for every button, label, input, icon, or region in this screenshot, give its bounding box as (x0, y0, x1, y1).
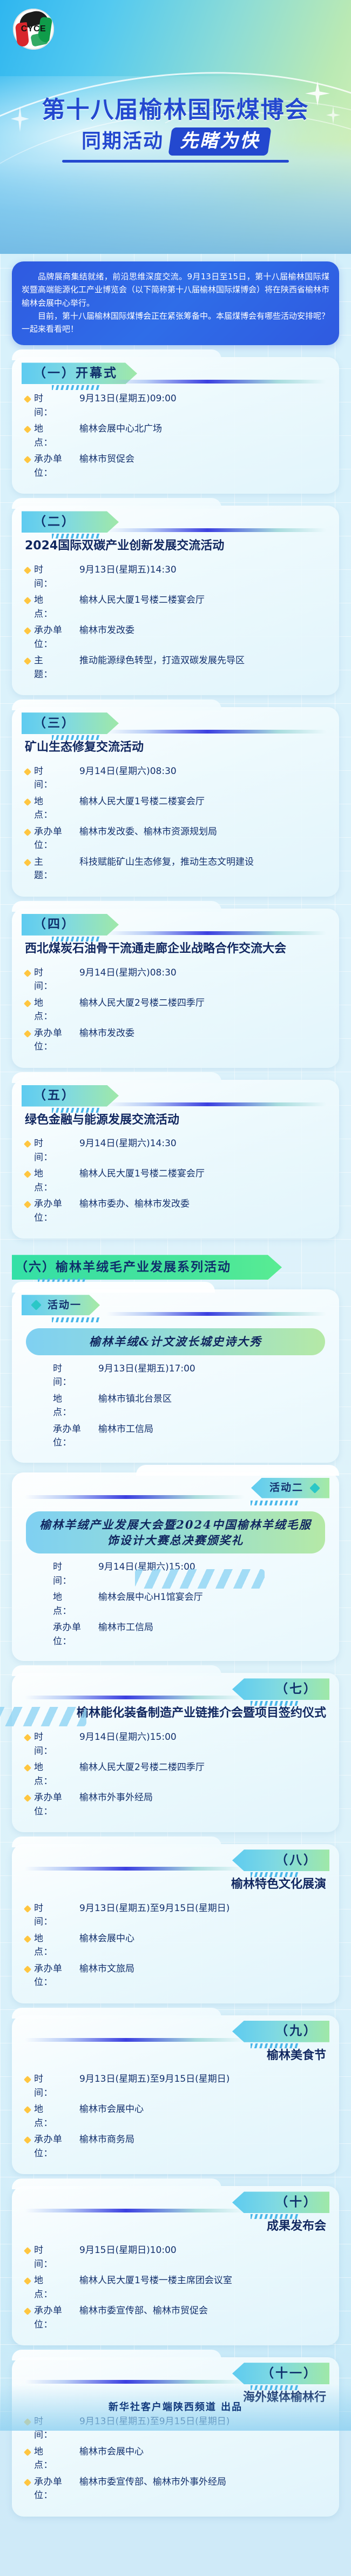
detail-label: 时 间： (34, 2244, 79, 2271)
diamond-bullet-icon (24, 627, 31, 635)
detail-rows: 时 间：9月13日(星期五)17:00地 点：榆林市镇北台景区承办单位：榆林市工… (12, 1357, 339, 1450)
footer-text: 新华社客户端陕西频道 出品 (109, 2403, 242, 2412)
detail-label: 时 间： (34, 392, 79, 420)
intro-paragraph-box: 品牌展商集结就绪，前沿思维深度交流。9月13日至15日，第十八届榆林国际煤炭暨高… (12, 261, 339, 345)
sub-activity-card: 活动一榆林羊绒&计文波长城史诗大秀时 间：9月13日(星期五)17:00地 点：… (12, 1289, 339, 1462)
detail-value: 榆林市镇北台景区 (98, 1393, 326, 1407)
detail-row: 主 题：推动能源绿色转型，打造双碳发展先导区 (25, 654, 326, 682)
diamond-bullet-icon (24, 426, 31, 433)
detail-label: 主 题： (34, 856, 79, 883)
detail-row: 承办单位：榆林市工信局 (53, 1423, 326, 1450)
diamond-bullet-icon (24, 2277, 31, 2285)
detail-value: 榆林市发改委 (79, 1027, 326, 1041)
hero-banner: CYCE 第十八届榆林国际煤博会 同期活动 先睹为快 (0, 0, 351, 254)
detail-row: 承办单位：榆林市发改委 (25, 624, 326, 651)
section-number-tab: （九） (232, 2021, 329, 2042)
detail-value: 榆林市文旅局 (79, 1962, 326, 1976)
card-tab-area: （十） (12, 2186, 339, 2216)
detail-label: 承办单位： (34, 2133, 79, 2161)
diamond-bullet-icon (24, 395, 31, 403)
diamond-bullet-icon (24, 567, 31, 574)
detail-value: 榆林人民大厦1号楼二楼宴会厅 (79, 594, 326, 608)
diamond-bullet-icon (24, 2449, 31, 2456)
dash-decoration (251, 2043, 299, 2048)
detail-label: 地 点： (34, 1167, 79, 1195)
detail-row: 时 间：9月14日(星期六)08:30 (25, 765, 326, 792)
detail-row: 地 点：榆林市会展中心 (25, 2103, 326, 2130)
detail-label: 承办单位： (34, 453, 79, 480)
title-line-1: 第十八届榆林国际煤博会 (19, 97, 332, 123)
event-title: 绿色金融与能源发展交流活动 (12, 1110, 339, 1133)
diamond-bullet-icon (24, 1171, 31, 1178)
streak-decoration (25, 1696, 245, 1699)
detail-label: 地 点： (53, 1591, 98, 1618)
event-card: （五）绿色金融与能源发展交流活动时 间：9月14日(星期六)14:30地 点：榆… (12, 1080, 339, 1239)
activity-tag-label: 活动一 (48, 1300, 82, 1310)
streak-decoration (106, 931, 326, 935)
section-number-tab: （三） (22, 712, 119, 734)
detail-value: 9月13日(星期五)14:30 (79, 563, 326, 577)
detail-value: 榆林市委宣传部、榆林市贸促会 (79, 2304, 326, 2318)
diamond-bullet-icon (24, 999, 31, 1007)
detail-label: 时 间： (34, 966, 79, 994)
event-card: （四）西北煤炭石油骨干流通走廊企业战略合作交流大会时 间：9月14日(星期六)0… (12, 909, 339, 1068)
section-number-tab: （四） (22, 914, 119, 936)
detail-rows: 时 间：9月13日(星期五)至9月15日(星期日)地 点：榆林市会展中心承办单位… (12, 2068, 339, 2161)
section-six-label: （六）榆林羊绒毛产业发展系列活动 (12, 1255, 282, 1280)
detail-value: 榆林市委办、榆林市发改委 (79, 1198, 326, 1212)
detail-row: 承办单位：榆林市工信局 (53, 1621, 326, 1649)
diamond-bullet-icon (24, 1966, 31, 1973)
detail-row: 地 点：榆林会展中心北广场 (25, 422, 326, 450)
streak-decoration (106, 1102, 326, 1106)
streak-decoration (25, 1867, 245, 1871)
dash-decoration (52, 1317, 100, 1322)
intro-paragraph-1: 品牌展商集结就绪，前沿思维深度交流。9月13日至15日，第十八届榆林国际煤炭暨高… (22, 270, 329, 310)
cyce-logo: CYCE (13, 9, 54, 50)
stripe-decoration (135, 1569, 265, 1589)
detail-row: 地 点：榆林市会展中心 (25, 2445, 326, 2473)
detail-label: 承办单位： (34, 624, 79, 651)
diamond-bullet-icon (24, 2308, 31, 2315)
activity-tag: 活动一 (22, 1295, 100, 1315)
detail-value: 9月14日(星期六)08:30 (79, 966, 326, 980)
detail-row: 承办单位：榆林市委办、榆林市发改委 (25, 1198, 326, 1225)
detail-value: 榆林人民大厦1号楼一楼主席团会议室 (79, 2274, 326, 2288)
detail-label: 承办单位： (34, 2304, 79, 2332)
detail-row: 时 间：9月14日(星期六)14:30 (25, 1137, 326, 1165)
section-number-tab: （八） (232, 1849, 329, 1871)
card-tab-area: （八） (12, 1844, 339, 1874)
detail-label: 地 点： (34, 2103, 79, 2130)
diamond-bullet-icon (24, 859, 31, 866)
diamond-bullet-icon (24, 597, 31, 604)
section-number-tab: （七） (232, 1678, 329, 1700)
detail-value: 9月15日(星期日)10:00 (79, 2244, 326, 2258)
intro-paragraph-2: 目前，第十八届榆林国际煤博会正在紧张筹备中。本届煤博会有哪些活动安排呢？一起来看… (22, 310, 329, 336)
activity-tag-label: 活动二 (269, 1483, 303, 1493)
diamond-icon (31, 1300, 42, 1310)
detail-row: 时 间：9月13日(星期五)至9月15日(星期日) (25, 2073, 326, 2100)
section-number-tab: （五） (22, 1085, 119, 1107)
detail-value: 榆林市工信局 (98, 1621, 326, 1635)
activity-title-pill: 榆林羊绒&计文波长城史诗大秀 (26, 1328, 325, 1355)
detail-row: 时 间：9月13日(星期五)09:00 (25, 392, 326, 420)
detail-value: 科技赋能矿山生态修复，推动生态文明建设 (79, 856, 326, 870)
detail-label: 地 点： (34, 1761, 79, 1788)
detail-label: 地 点： (34, 2274, 79, 2302)
detail-label: 承办单位： (34, 2476, 79, 2503)
detail-label: 时 间： (53, 1561, 98, 1588)
event-title: 矿山生态修复交流活动 (12, 737, 339, 760)
diamond-bullet-icon (24, 1201, 31, 1208)
card-tab-area: （二） (12, 506, 339, 536)
detail-row: 地 点：榆林人民大厦1号楼二楼宴会厅 (25, 795, 326, 823)
detail-label: 承办单位： (34, 1027, 79, 1054)
detail-label: 承办单位： (34, 825, 79, 853)
diamond-bullet-icon (24, 456, 31, 463)
dash-decoration (251, 2214, 299, 2219)
detail-rows: 时 间：9月15日(星期日)10:00地 点：榆林人民大厦1号楼一楼主席团会议室… (12, 2239, 339, 2332)
detail-row: 承办单位：榆林市发改委 (25, 1027, 326, 1054)
diamond-bullet-icon (24, 1734, 31, 1741)
sub-tab-area: 活动一 (12, 1289, 339, 1320)
detail-label: 时 间： (34, 765, 79, 792)
detail-rows: 时 间：9月13日(星期五)14:30地 点：榆林人民大厦1号楼二楼宴会厅承办单… (12, 559, 339, 682)
card-tab-area: （三） (12, 707, 339, 737)
dash-decoration (251, 1872, 299, 1877)
event-card: （三）矿山生态修复交流活动时 间：9月14日(星期六)08:30地 点：榆林人民… (12, 707, 339, 897)
event-title: 成果发布会 (12, 2216, 339, 2239)
activity-title-pill: 榆林羊绒产业发展大会暨2024中国榆林羊绒毛服饰设计大赛总决赛颁奖礼 (26, 1511, 325, 1554)
detail-row: 地 点：榆林人民大厦1号楼一楼主席团会议室 (25, 2274, 326, 2302)
streak-decoration (106, 380, 326, 384)
detail-row: 地 点：榆林人民大厦1号楼二楼宴会厅 (25, 594, 326, 621)
diamond-bullet-icon (24, 829, 31, 836)
detail-value: 榆林市会展中心 (79, 2103, 326, 2117)
streak-decoration (25, 2380, 245, 2384)
detail-row: 时 间：9月14日(星期六)08:30 (25, 966, 326, 994)
event-card: （九）榆林美食节时 间：9月13日(星期五)至9月15日(星期日)地 点：榆林市… (12, 2015, 339, 2175)
detail-label: 主 题： (34, 654, 79, 682)
detail-rows: 时 间：9月14日(星期六)15:00地 点：榆林人民大厦2号楼二楼四季厅承办单… (12, 1726, 339, 1819)
detail-row: 承办单位：榆林市发改委、榆林市资源规划局 (25, 825, 326, 853)
detail-value: 榆林市发改委、榆林市资源规划局 (79, 825, 326, 839)
detail-value: 9月13日(星期五)至9月15日(星期日) (79, 2073, 326, 2087)
detail-value: 榆林人民大厦2号楼二楼四季厅 (79, 1761, 326, 1775)
detail-value: 9月14日(星期六)08:30 (79, 765, 326, 779)
card-tab-area: （四） (12, 909, 339, 939)
detail-row: 地 点：榆林人民大厦2号楼二楼四季厅 (25, 1761, 326, 1788)
diamond-bullet-icon (24, 2076, 31, 2083)
detail-value: 榆林人民大厦2号楼二楼四季厅 (79, 997, 326, 1011)
detail-label: 承办单位： (53, 1621, 98, 1649)
diamond-icon (309, 1483, 320, 1494)
detail-label: 承办单位： (34, 1791, 79, 1819)
section-number-tab: （十） (232, 2191, 329, 2213)
detail-label: 时 间： (34, 1902, 79, 1929)
event-title: 榆林美食节 (12, 2046, 339, 2068)
card-tab-area: （九） (12, 2015, 339, 2046)
detail-row: 时 间：9月15日(星期日)10:00 (25, 2244, 326, 2271)
detail-rows: 时 间：9月14日(星期六)08:30地 点：榆林人民大厦2号楼二楼四季厅承办单… (12, 961, 339, 1054)
detail-label: 时 间： (34, 563, 79, 591)
event-card: （一）开幕式时 间：9月13日(星期五)09:00地 点：榆林会展中心北广场承办… (12, 357, 339, 494)
detail-value: 推动能源绿色转型，打造双碳发展先导区 (79, 654, 326, 668)
detail-value: 榆林人民大厦1号楼二楼宴会厅 (79, 795, 326, 809)
detail-row: 承办单位：榆林市委宣传部、榆林市贸促会 (25, 2304, 326, 2332)
event-card: （十）成果发布会时 间：9月15日(星期日)10:00地 点：榆林人民大厦1号楼… (12, 2186, 339, 2345)
detail-rows: 时 间：9月14日(星期六)14:30地 点：榆林人民大厦1号楼二楼宴会厅承办单… (12, 1132, 339, 1225)
detail-label: 地 点： (34, 1932, 79, 1960)
diamond-bullet-icon (24, 1905, 31, 1913)
dash-decoration (251, 1501, 299, 1505)
detail-value: 榆林市外事外经局 (79, 1791, 326, 1805)
detail-row: 时 间：9月13日(星期五)14:30 (25, 563, 326, 591)
card-tab-area: （十一） (12, 2357, 339, 2387)
detail-row: 承办单位：榆林市委宣传部、榆林市外事外经局 (25, 2476, 326, 2503)
detail-row: 主 题：科技赋能矿山生态修复，推动生态文明建设 (25, 856, 326, 883)
detail-label: 地 点： (34, 594, 79, 621)
detail-label: 时 间： (34, 1137, 79, 1165)
detail-row: 时 间：9月13日(星期五)17:00 (53, 1362, 326, 1390)
detail-label: 地 点： (34, 997, 79, 1024)
detail-value: 榆林市委宣传部、榆林市外事外经局 (79, 2476, 326, 2490)
detail-label: 承办单位： (34, 1198, 79, 1225)
event-card: （十一）海外媒体榆林行时 间：9月13日(星期五)至9月15日(星期日)地 点：… (12, 2357, 339, 2517)
diamond-bullet-icon (24, 2106, 31, 2114)
detail-label: 地 点： (34, 2445, 79, 2473)
detail-value: 榆林市发改委 (79, 624, 326, 638)
section-six-activities: 活动一榆林羊绒&计文波长城史诗大秀时 间：9月13日(星期五)17:00地 点：… (0, 1289, 351, 1661)
detail-row: 时 间：9月14日(星期六)15:00 (25, 1731, 326, 1758)
detail-label: 时 间： (34, 1731, 79, 1758)
event-card: （二）2024国际双碳产业创新发展交流活动时 间：9月13日(星期五)14:30… (12, 506, 339, 695)
event-title: 榆林特色文化展演 (12, 1874, 339, 1897)
detail-value: 榆林会展中心北广场 (79, 422, 326, 436)
diamond-bullet-icon (24, 768, 31, 776)
detail-value: 榆林会展中心H1馆宴会厅 (98, 1591, 326, 1605)
detail-label: 地 点： (53, 1393, 98, 1420)
sections-one-to-five: （一）开幕式时 间：9月13日(星期五)09:00地 点：榆林会展中心北广场承办… (0, 357, 351, 1239)
detail-row: 承办单位：榆林市外事外经局 (25, 1791, 326, 1819)
diamond-bullet-icon (24, 1140, 31, 1148)
dash-decoration (52, 937, 100, 941)
detail-rows: 时 间：9月14日(星期六)08:30地 点：榆林人民大厦1号楼二楼宴会厅承办单… (12, 760, 339, 883)
title-underline (62, 160, 289, 163)
diamond-bullet-icon (24, 2479, 31, 2486)
logo-text: CYCE (21, 25, 46, 33)
detail-value: 9月13日(星期五)09:00 (79, 392, 326, 406)
diamond-bullet-icon (24, 1794, 31, 1802)
streak-decoration (106, 1312, 326, 1316)
detail-row: 承办单位：榆林市商务局 (25, 2133, 326, 2161)
dash-decoration (52, 1108, 100, 1113)
diamond-bullet-icon (24, 657, 31, 665)
detail-rows: 时 间：9月13日(星期五)09:00地 点：榆林会展中心北广场承办单位：榆林市… (12, 387, 339, 480)
diamond-bullet-icon (24, 1030, 31, 1037)
diamond-bullet-icon (24, 1935, 31, 1943)
stripe-decoration (0, 1707, 86, 1726)
detail-row: 地 点：榆林人民大厦1号楼二楼宴会厅 (25, 1167, 326, 1195)
detail-label: 承办单位： (34, 1962, 79, 1990)
streak-decoration (106, 528, 326, 532)
detail-rows: 时 间：9月13日(星期五)至9月15日(星期日)地 点：榆林会展中心承办单位：… (12, 1897, 339, 1990)
diamond-bullet-icon (24, 969, 31, 977)
detail-value: 榆林市会展中心 (79, 2445, 326, 2459)
detail-label: 地 点： (34, 422, 79, 450)
event-card: （七）榆林能化装备制造产业链推介会暨项目签约仪式时 间：9月14日(星期六)15… (12, 1673, 339, 1832)
detail-label: 时 间： (53, 1362, 98, 1390)
card-tab-area: （七） (12, 1673, 339, 1703)
event-title: 西北煤炭石油骨干流通走廊企业战略合作交流大会 (12, 939, 339, 961)
detail-row: 地 点：榆林人民大厦2号楼二楼四季厅 (25, 997, 326, 1024)
dash-decoration (52, 534, 100, 539)
detail-row: 地 点：榆林市镇北台景区 (53, 1393, 326, 1420)
sub-tab-area: 活动二 (12, 1472, 339, 1503)
detail-value: 榆林会展中心 (79, 1932, 326, 1946)
poster-title: 第十八届榆林国际煤博会 同期活动 先睹为快 (19, 97, 332, 163)
title-line-2: 同期活动 (82, 131, 164, 152)
detail-row: 承办单位：榆林市贸促会 (25, 453, 326, 480)
detail-value: 9月13日(星期五)17:00 (98, 1362, 326, 1376)
detail-value: 9月14日(星期六)15:00 (79, 1731, 326, 1745)
footer-bar: 新华社客户端陕西频道 出品 (0, 2384, 351, 2431)
dash-decoration (52, 385, 100, 390)
section-number-tab: （二） (22, 511, 119, 533)
streak-decoration (106, 730, 326, 734)
detail-value: 榆林人民大厦1号楼二楼宴会厅 (79, 1167, 326, 1181)
event-title: 2024国际双碳产业创新发展交流活动 (12, 536, 339, 559)
dash-decoration (251, 1701, 299, 1706)
event-card: （八）榆林特色文化展演时 间：9月13日(星期五)至9月15日(星期日)地 点：… (12, 1844, 339, 2003)
streak-decoration (25, 2038, 245, 2042)
card-tab-area: （一）开幕式 (12, 357, 339, 387)
detail-row: 承办单位：榆林市文旅局 (25, 1962, 326, 1990)
diamond-bullet-icon (24, 2136, 31, 2144)
detail-value: 9月13日(星期五)至9月15日(星期日) (79, 1902, 326, 1916)
streak-decoration (25, 2209, 245, 2212)
detail-value: 榆林市贸促会 (79, 453, 326, 467)
section-number-tab: （十一） (232, 2363, 329, 2384)
diamond-bullet-icon (24, 798, 31, 806)
activity-tag: 活动二 (251, 1478, 329, 1498)
diamond-bullet-icon (24, 1764, 31, 1772)
detail-row: 时 间：9月13日(星期五)至9月15日(星期日) (25, 1902, 326, 1929)
sub-activity-card: 活动二榆林羊绒产业发展大会暨2024中国榆林羊绒毛服饰设计大赛总决赛颁奖礼时 间… (12, 1472, 339, 1662)
dash-decoration (52, 735, 100, 740)
detail-value: 9月14日(星期六)14:30 (79, 1137, 326, 1151)
section-six-banner: （六）榆林羊绒毛产业发展系列活动 (12, 1255, 339, 1280)
detail-label: 承办单位： (53, 1423, 98, 1450)
streak-decoration (25, 1495, 245, 1499)
detail-label: 地 点： (34, 795, 79, 823)
detail-row: 地 点：榆林会展中心H1馆宴会厅 (53, 1591, 326, 1618)
card-tab-area: （五） (12, 1080, 339, 1110)
detail-label: 时 间： (34, 2073, 79, 2100)
detail-row: 地 点：榆林会展中心 (25, 1932, 326, 1960)
detail-value: 榆林市工信局 (98, 1423, 326, 1437)
diamond-bullet-icon (24, 2247, 31, 2255)
detail-value: 榆林市商务局 (79, 2133, 326, 2147)
poster-page: CYCE 第十八届榆林国际煤博会 同期活动 先睹为快 品牌展商集结就绪，前沿思维… (0, 0, 351, 2431)
title-badge: 先睹为快 (168, 127, 271, 156)
